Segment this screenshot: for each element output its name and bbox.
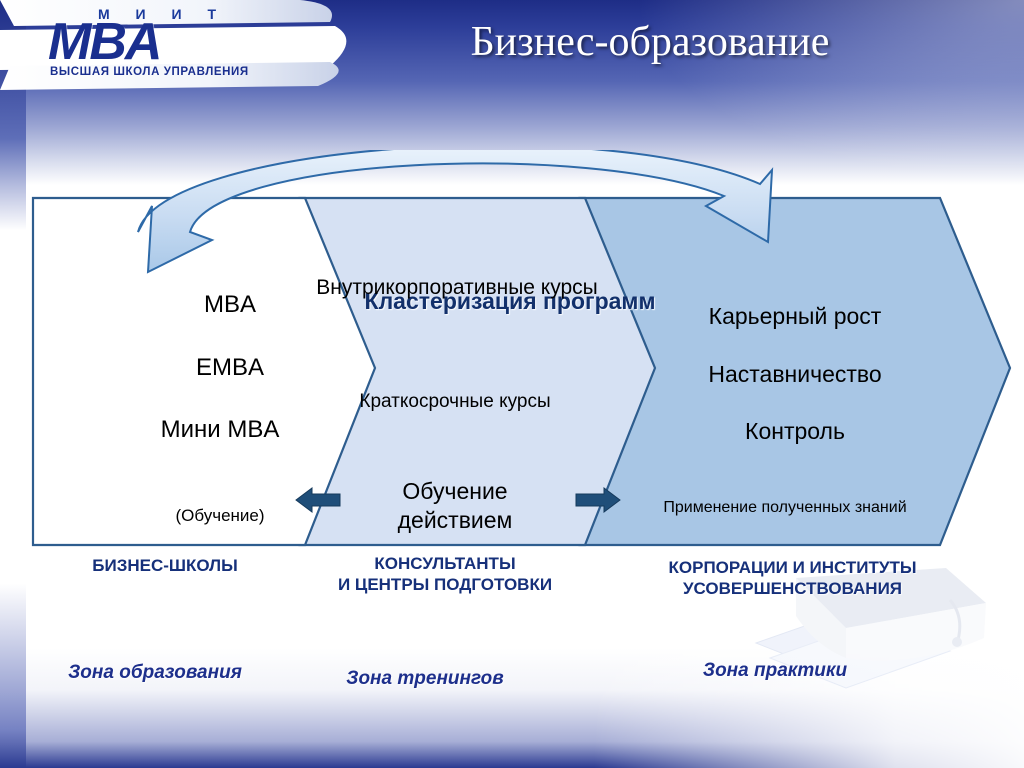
actor-label-consultants-line2: И ЦЕНТРЫ ПОДГОТОВКИ [300, 574, 590, 595]
segment-training-item-short-courses: Краткосрочные курсы [330, 390, 580, 414]
logo-mark: MBA [48, 16, 160, 68]
zone-label-practice: Зона практики [630, 660, 920, 682]
actor-label-corporations-line2: УСОВЕРШЕНСТВОВАНИЯ [605, 578, 980, 599]
zone-label-training: Зона тренингов [300, 668, 550, 690]
segment-training-item-action-learning: Обучение действием [345, 477, 565, 535]
actor-label-consultants: КОНСУЛЬТАНТЫ И ЦЕНТРЫ ПОДГОТОВКИ [300, 553, 590, 596]
actor-label-corporations: КОРПОРАЦИИ И ИНСТИТУТЫ УСОВЕРШЕНСТВОВАНИ… [605, 557, 980, 600]
actor-label-consultants-line1: КОНСУЛЬТАНТЫ [300, 553, 590, 574]
page-title: Бизнес-образование [300, 18, 1000, 66]
segment-education-note: (Обучение) [110, 505, 330, 526]
segment-practice-item-career-growth: Карьерный рост [630, 302, 960, 331]
segment-education-item-mini-mba: Мини MBA [110, 415, 330, 445]
process-diagram: Кластеризация программ MBA EMBA Мини MBA… [0, 150, 1024, 570]
segment-education-item-mba: MBA [120, 290, 340, 320]
actor-label-corporations-line1: КОРПОРАЦИИ И ИНСТИТУТЫ [605, 557, 980, 578]
segment-practice-note: Применение полученных знаний [620, 498, 950, 518]
segment-practice-item-mentoring: Наставничество [630, 360, 960, 389]
logo-subtitle: ВЫСШАЯ ШКОЛА УПРАВЛЕНИЯ [50, 66, 249, 78]
segment-training-item-corporate-courses: Внутрикорпоративные курсы [312, 275, 602, 301]
segment-practice-item-control: Контроль [630, 417, 960, 446]
zone-label-education: Зона образования [25, 662, 285, 684]
slide-canvas: М И И Т MBA ВЫСШАЯ ШКОЛА УПРАВЛЕНИЯ Бизн… [0, 0, 1024, 768]
actor-label-business-schools: БИЗНЕС-ШКОЛЫ [40, 555, 290, 576]
segment-education-item-emba: EMBA [120, 353, 340, 383]
